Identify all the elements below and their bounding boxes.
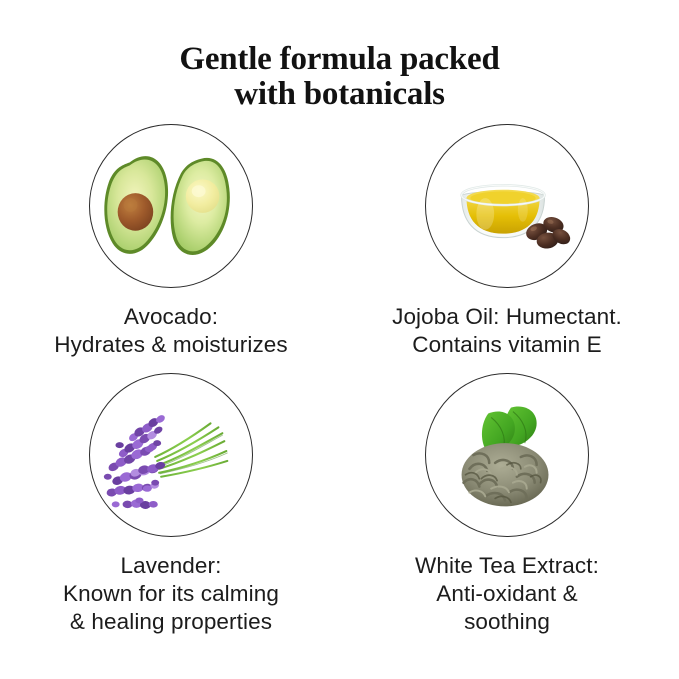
ingredient-card-jojoba-oil: Jojoba Oil: Humectant. Contains vitamin … xyxy=(357,124,657,359)
ingredient-circle-avocado xyxy=(89,124,253,288)
ingredient-circle-jojoba-oil xyxy=(425,124,589,288)
caption-line: Contains vitamin E xyxy=(357,331,657,359)
ingredient-circle-white-tea-extract xyxy=(425,373,589,537)
lavender-bouquet xyxy=(90,374,252,536)
caption-line: Known for its calming xyxy=(21,580,321,608)
ingredient-card-lavender: Lavender: Known for its calming & healin… xyxy=(21,373,321,636)
ingredient-caption-avocado: Avocado: Hydrates & moisturizes xyxy=(21,303,321,359)
caption-line: Avocado: xyxy=(21,303,321,331)
caption-line: White Tea Extract: xyxy=(357,552,657,580)
ingredient-card-avocado: Avocado: Hydrates & moisturizes xyxy=(21,124,321,359)
page-title: Gentle formula packed with botanicals xyxy=(0,42,679,112)
white-tea-dried-leaves-pile xyxy=(426,374,588,536)
ingredient-caption-jojoba-oil: Jojoba Oil: Humectant. Contains vitamin … xyxy=(357,303,657,359)
page-title-line-2: with botanicals xyxy=(0,77,679,112)
ingredient-caption-white-tea-extract: White Tea Extract: Anti-oxidant & soothi… xyxy=(357,552,657,636)
ingredient-card-white-tea-extract: White Tea Extract: Anti-oxidant & soothi… xyxy=(357,373,657,636)
caption-line: Anti-oxidant & xyxy=(357,580,657,608)
page-title-line-1: Gentle formula packed xyxy=(0,42,679,77)
avocado-halves-illustration xyxy=(90,125,252,287)
caption-line: soothing xyxy=(357,608,657,636)
caption-line: Lavender: xyxy=(21,552,321,580)
jojoba-oil-bowl-with-seeds xyxy=(426,125,588,287)
caption-line: & healing properties xyxy=(21,608,321,636)
caption-line: Jojoba Oil: Humectant. xyxy=(357,303,657,331)
ingredient-circle-lavender xyxy=(89,373,253,537)
caption-line: Hydrates & moisturizes xyxy=(21,331,321,359)
ingredient-caption-lavender: Lavender: Known for its calming & healin… xyxy=(21,552,321,636)
ingredients-infographic: Gentle formula packed with botanicals xyxy=(0,0,679,679)
